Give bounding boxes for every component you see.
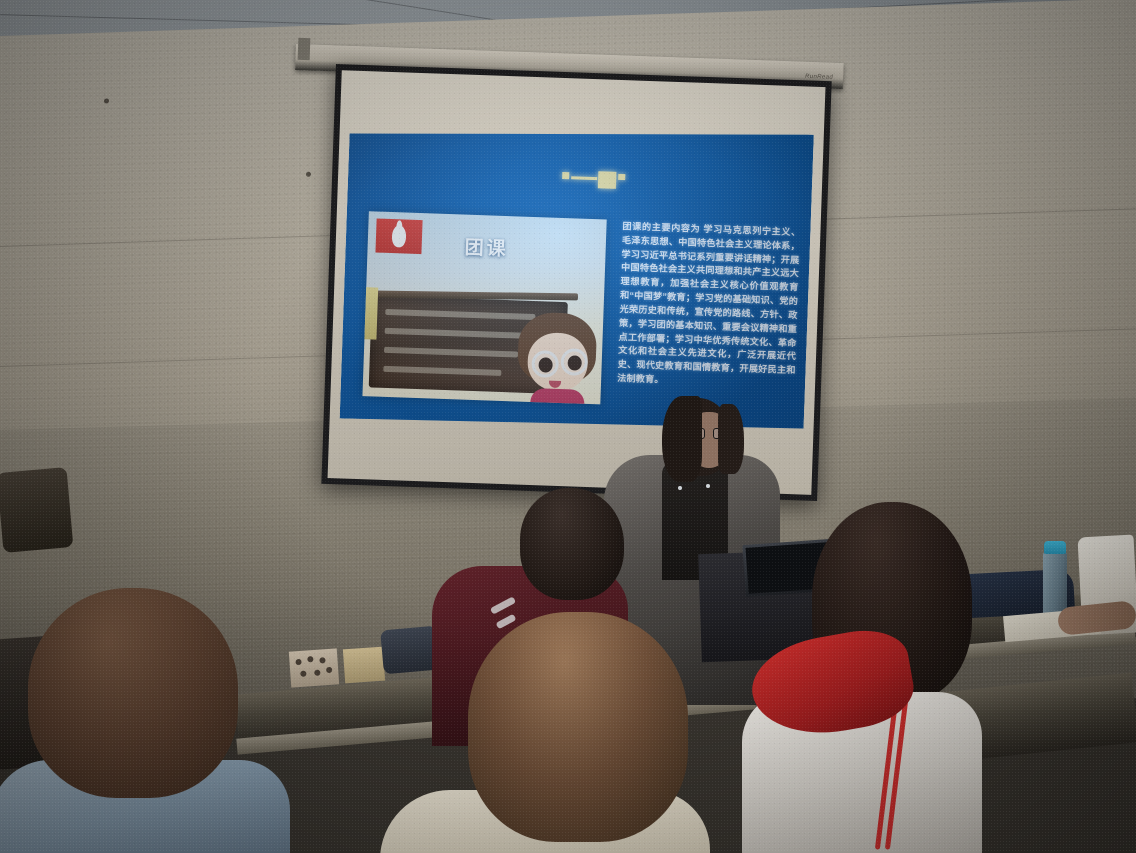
- bottle-cap-icon: [1044, 541, 1066, 554]
- student-front-mid-head: [468, 612, 688, 842]
- student-maroon-head: [520, 488, 624, 600]
- slide-card: 团课: [362, 211, 606, 404]
- screen-surface: 团课: [328, 70, 826, 495]
- slide-body-text: 团课的主要内容为 学习马克思列宁主义、毛泽东思想、中国特色社会主义理论体系，学习…: [617, 220, 801, 392]
- dark-bag-object: [380, 626, 440, 675]
- chair-back-left: [0, 467, 73, 553]
- presenter-hair-right: [718, 404, 744, 474]
- presenter-hair-left: [662, 396, 702, 482]
- cartoon-girl-illustration: [512, 309, 601, 404]
- polka-dot-container: [289, 648, 339, 687]
- presentation-slide: 团课: [340, 119, 814, 435]
- chalk-rail: [362, 287, 378, 340]
- classroom-photo: RunRead 团课: [0, 0, 1136, 853]
- projector-screen: 团课: [321, 64, 831, 501]
- slide-decoration-icon: [562, 170, 635, 191]
- slide-card-title: 团课: [367, 229, 606, 264]
- screen-mount-bracket: [298, 38, 311, 60]
- student-front-left-head: [28, 588, 238, 798]
- tan-container: [343, 647, 385, 684]
